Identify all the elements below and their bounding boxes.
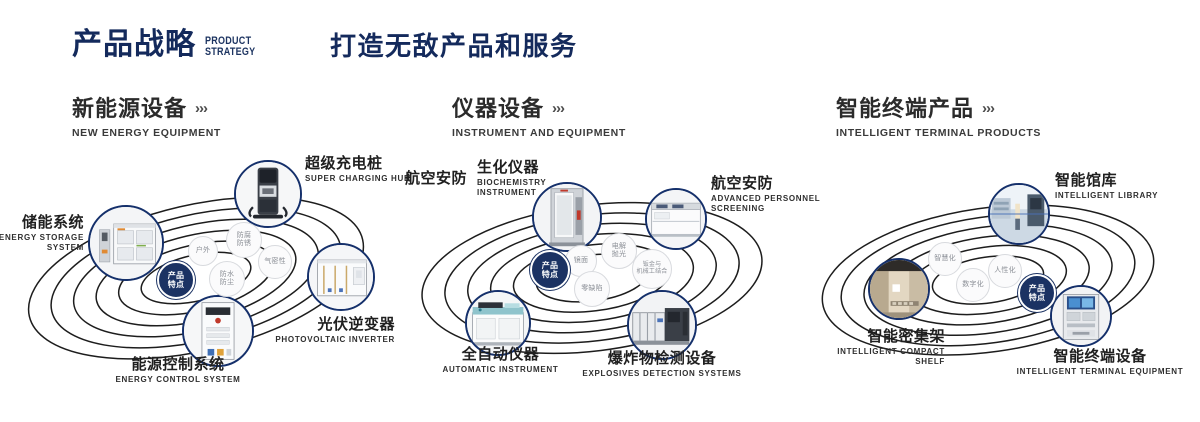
explosives-detection-photo xyxy=(629,292,695,358)
caption-en: INTELLIGENT TERMINAL EQUIPMENT xyxy=(1000,367,1200,377)
caption-photovoltaic-inverter: 光伏逆变器 PHOTOVOLTAIC INVERTER xyxy=(235,316,395,345)
caption-en: INTELLIGENT COMPACT SHELF xyxy=(790,347,945,367)
terminal-equipment-photo xyxy=(1052,287,1110,345)
instrument-diagram: 航空安防 生化仪器 BIOCHEMISTRY INSTRUMENT xyxy=(395,150,795,412)
core-badge-text: 产品特点 xyxy=(168,271,185,290)
caption-energy-storage-system: 储能系统 ENERGY STORAGE SYSTEM xyxy=(0,214,84,253)
pv-inverter-photo xyxy=(309,245,373,309)
section-title-en: NEW ENERGY EQUIPMENT xyxy=(72,127,221,139)
caption-cn: 智能密集架 xyxy=(790,328,945,346)
new-energy-diagram: 储能系统 ENERGY STORAGE SYSTEM 超级充电桩 SUPER C… xyxy=(0,150,400,412)
node-energy-storage-system[interactable] xyxy=(88,205,164,281)
caption-aviation-security-solo: 航空安防 xyxy=(405,170,467,188)
feature-bubble-2: 数字化 xyxy=(956,268,990,302)
caption-en: BIOCHEMISTRY INSTRUMENT xyxy=(477,178,597,198)
core-badge-product-features: 产品特点 xyxy=(1018,274,1056,312)
section-title-en: INSTRUMENT AND EQUIPMENT xyxy=(452,127,626,139)
feature-bubble-4: 气密性 xyxy=(258,245,292,279)
page-title: 产品战略 xyxy=(72,30,196,60)
intelligent-library-photo xyxy=(990,185,1048,243)
caption-intelligent-compact-shelf: 智能密集架 INTELLIGENT COMPACT SHELF xyxy=(790,328,945,367)
core-badge-product-features: 产品特点 xyxy=(157,261,195,299)
feature-bubble-1: 户外 xyxy=(188,236,218,266)
caption-en: ENERGY CONTROL SYSTEM xyxy=(78,375,278,385)
caption-energy-control-system: 能源控制系统 ENERGY CONTROL SYSTEM xyxy=(78,356,278,385)
caption-cn: 爆炸物检测设备 xyxy=(572,350,752,368)
automatic-instrument-photo xyxy=(467,292,529,354)
caption-en: PHOTOVOLTAIC INVERTER xyxy=(235,335,395,345)
caption-intelligent-terminal-equipment: 智能终端设备 INTELLIGENT TERMINAL EQUIPMENT xyxy=(1000,348,1200,377)
core-badge-text: 产品特点 xyxy=(1029,284,1046,303)
caption-automatic-instrument: 全自动仪器 AUTOMATIC INSTRUMENT xyxy=(423,346,578,375)
caption-intelligent-library: 智能馆库 INTELLIGENT LIBRARY xyxy=(1055,172,1195,201)
charging-hub-photo xyxy=(236,162,300,226)
node-photovoltaic-inverter[interactable] xyxy=(307,243,375,311)
caption-explosives-detection-systems: 爆炸物检测设备 EXPLOSIVES DETECTION SYSTEMS xyxy=(572,350,752,379)
caption-cn: 光伏逆变器 xyxy=(235,316,395,334)
node-intelligent-library[interactable] xyxy=(988,183,1050,245)
feature-bubble-1: 智慧化 xyxy=(928,242,962,276)
chevrons-right-icon: ››› xyxy=(552,96,564,122)
caption-en: ENERGY STORAGE SYSTEM xyxy=(0,233,84,253)
caption-biochemistry-instrument: 生化仪器 BIOCHEMISTRY INSTRUMENT xyxy=(477,159,597,198)
node-super-charging-hub[interactable] xyxy=(234,160,302,228)
energy-control-photo xyxy=(184,297,252,365)
chevrons-right-icon: ››› xyxy=(195,96,207,122)
feature-bubble-3: 防水 防尘 xyxy=(209,261,245,297)
feature-bubble-3: 人性化 xyxy=(988,254,1022,288)
section-title-en: INTELLIGENT TERMINAL PRODUCTS xyxy=(836,127,1041,139)
page-subtitle: 打造无敌产品和服务 xyxy=(330,33,578,59)
caption-cn: 智能终端设备 xyxy=(1000,348,1200,366)
screening-photo xyxy=(647,190,705,248)
feature-bubble-2: 防腐 防锈 xyxy=(226,222,262,258)
node-intelligent-compact-shelf[interactable] xyxy=(868,258,930,320)
section-title-instrument: 仪器设备››› INSTRUMENT AND EQUIPMENT xyxy=(452,96,626,139)
caption-cn: 全自动仪器 xyxy=(423,346,578,364)
product-strategy-infographic: 产品战略 PRODUCT STRATEGY 打造无敌产品和服务 新能源设备›››… xyxy=(0,0,1200,422)
page-header: 产品战略 PRODUCT STRATEGY xyxy=(72,30,266,60)
chevrons-right-icon: ››› xyxy=(982,96,994,122)
core-badge-text: 产品特点 xyxy=(542,261,559,280)
feature-bubble-3: 钣金与 机械工结合 xyxy=(632,249,672,289)
caption-en: AUTOMATIC INSTRUMENT xyxy=(423,365,578,375)
caption-cn: 智能馆库 xyxy=(1055,172,1195,190)
node-intelligent-terminal-equipment[interactable] xyxy=(1050,285,1112,347)
intelligent-terminal-diagram: 智能馆库 INTELLIGENT LIBRARY 智能密集架 INT xyxy=(800,150,1200,412)
feature-bubble-4: 零缺陷 xyxy=(574,271,610,307)
node-advanced-personnel-screening[interactable] xyxy=(645,188,707,250)
core-badge-product-features: 产品特点 xyxy=(530,250,570,290)
section-title-cn: 新能源设备 xyxy=(72,96,187,122)
section-title-new-energy: 新能源设备››› NEW ENERGY EQUIPMENT xyxy=(72,96,221,139)
page-title-en: PRODUCT STRATEGY xyxy=(205,36,255,58)
caption-cn: 生化仪器 xyxy=(477,159,597,177)
section-title-cn: 仪器设备 xyxy=(452,96,544,122)
caption-en: INTELLIGENT LIBRARY xyxy=(1055,191,1195,201)
section-title-intelligent-terminal: 智能终端产品››› INTELLIGENT TERMINAL PRODUCTS xyxy=(836,96,1041,139)
caption-cn: 储能系统 xyxy=(0,214,84,232)
caption-cn: 能源控制系统 xyxy=(78,356,278,374)
compact-shelf-photo xyxy=(870,260,928,318)
section-title-cn: 智能终端产品 xyxy=(836,96,974,122)
caption-en: EXPLOSIVES DETECTION SYSTEMS xyxy=(572,369,752,379)
energy-storage-photo xyxy=(90,207,162,279)
